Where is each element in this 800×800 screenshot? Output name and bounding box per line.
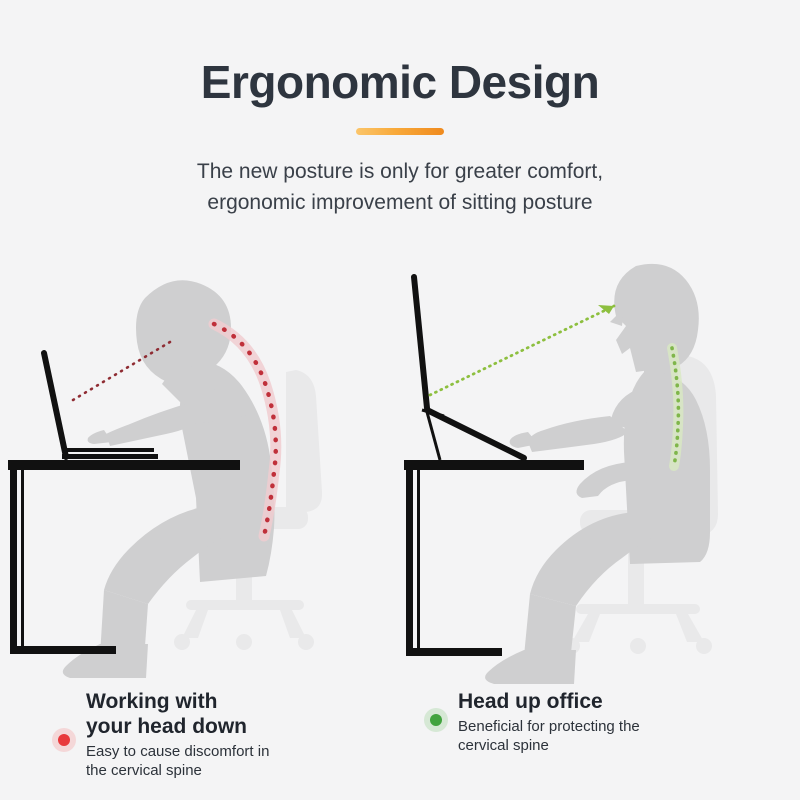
bullet-green-icon [424,708,448,732]
bullet-red-icon [52,728,76,752]
person-silhouette-right [485,264,710,684]
subtitle-line-1: The new posture is only for greater comf… [0,157,800,187]
scene-good-posture [400,260,800,700]
caption-area: Working with your head down Easy to caus… [0,690,800,800]
caption-sub-left-line-1: Easy to cause discomfort in [86,742,392,762]
subtitle-line-2: ergonomic improvement of sitting posture [0,188,800,218]
caption-sub-left-line-2: the cervical spine [86,761,392,781]
caption-text-left: Working with your head down Easy to caus… [86,690,392,781]
caption-heading-right: Head up office [458,690,764,715]
page-subtitle: The new posture is only for greater comf… [0,157,800,218]
caption-sub-right-line-1: Beneficial for protecting the [458,717,764,737]
caption-heading-left-line-1: Working with [86,690,392,715]
title-divider [356,128,444,135]
caption-heading-left: Working with your head down [86,690,392,740]
caption-good-posture: Head up office Beneficial for protecting… [424,690,764,756]
laptop-on-stand-right [414,277,524,460]
sightline-right [430,305,614,395]
page-title: Ergonomic Design [0,58,800,106]
header: Ergonomic Design The new posture is only… [0,0,800,218]
caption-heading-right-line-1: Head up office [458,690,764,715]
caption-sub-right-line-2: cervical spine [458,736,764,756]
caption-bad-posture: Working with your head down Easy to caus… [52,690,392,781]
caption-sub-left: Easy to cause discomfort in the cervical… [86,742,392,781]
scene-bad-posture [0,260,400,700]
illustration-area [0,260,800,700]
caption-heading-left-line-2: your head down [86,715,392,740]
caption-sub-right: Beneficial for protecting the cervical s… [458,717,764,756]
caption-text-right: Head up office Beneficial for protecting… [458,690,764,756]
